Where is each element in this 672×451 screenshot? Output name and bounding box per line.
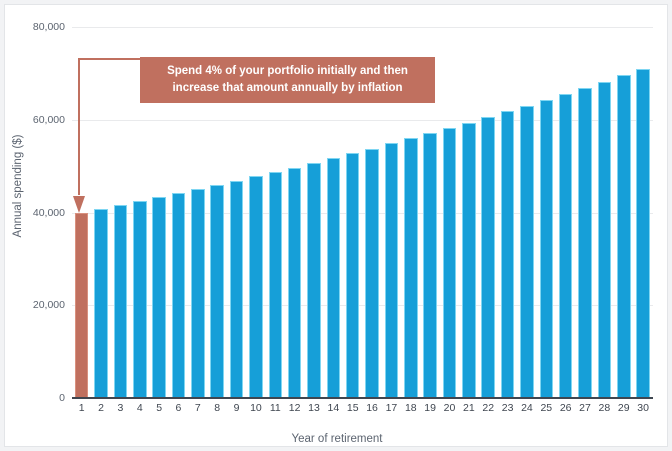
- bar-cell: [517, 27, 536, 398]
- bar-year-1[interactable]: [75, 213, 89, 399]
- x-tick-13: 13: [304, 402, 323, 420]
- x-tick-29: 29: [614, 402, 633, 420]
- bar-year-26[interactable]: [559, 94, 573, 398]
- bar-year-6[interactable]: [172, 193, 186, 398]
- x-tick-20: 20: [440, 402, 459, 420]
- y-tick-20000: 20,000: [7, 299, 65, 311]
- y-tick-0: 0: [7, 392, 65, 404]
- x-tick-28: 28: [595, 402, 614, 420]
- x-tick-27: 27: [575, 402, 594, 420]
- x-tick-19: 19: [420, 402, 439, 420]
- bar-cell: [459, 27, 478, 398]
- bar-year-11[interactable]: [269, 172, 283, 398]
- x-tick-21: 21: [459, 402, 478, 420]
- x-tick-10: 10: [246, 402, 265, 420]
- bar-cell: [537, 27, 556, 398]
- bar-year-8[interactable]: [210, 185, 224, 398]
- x-tick-11: 11: [266, 402, 285, 420]
- x-tick-7: 7: [188, 402, 207, 420]
- x-tick-24: 24: [517, 402, 536, 420]
- bar-year-27[interactable]: [578, 88, 592, 398]
- x-axis-tick-labels: 1234567891011121314151617181920212223242…: [72, 402, 653, 420]
- bar-year-7[interactable]: [191, 189, 205, 398]
- x-tick-12: 12: [285, 402, 304, 420]
- x-tick-30: 30: [633, 402, 652, 420]
- bar-cell: [575, 27, 594, 398]
- bar-year-23[interactable]: [501, 111, 515, 398]
- bar-year-2[interactable]: [94, 209, 108, 398]
- bar-cell: [440, 27, 459, 398]
- x-axis-title: Year of retirement: [5, 433, 669, 445]
- bar-year-24[interactable]: [520, 106, 534, 398]
- bar-year-3[interactable]: [114, 205, 128, 398]
- bar-cell: [91, 27, 110, 398]
- x-tick-22: 22: [479, 402, 498, 420]
- bar-year-14[interactable]: [327, 158, 341, 398]
- x-tick-15: 15: [343, 402, 362, 420]
- bar-year-20[interactable]: [443, 128, 457, 398]
- x-tick-14: 14: [324, 402, 343, 420]
- bar-cell: [595, 27, 614, 398]
- bar-year-18[interactable]: [404, 138, 418, 398]
- bar-year-17[interactable]: [385, 143, 399, 398]
- bar-year-28[interactable]: [598, 82, 612, 399]
- bar-cell: [614, 27, 633, 398]
- spending-rule-callout: Spend 4% of your portfolio initially and…: [140, 57, 435, 103]
- x-tick-18: 18: [401, 402, 420, 420]
- x-axis-line: [72, 397, 653, 399]
- bar-year-21[interactable]: [462, 123, 476, 398]
- x-tick-4: 4: [130, 402, 149, 420]
- x-tick-3: 3: [111, 402, 130, 420]
- x-tick-2: 2: [91, 402, 110, 420]
- bar-year-19[interactable]: [423, 133, 437, 398]
- x-tick-1: 1: [72, 402, 91, 420]
- bar-year-5[interactable]: [152, 197, 166, 398]
- bar-year-25[interactable]: [540, 100, 554, 398]
- x-tick-23: 23: [498, 402, 517, 420]
- bar-year-16[interactable]: [365, 149, 379, 398]
- bar-year-29[interactable]: [617, 75, 631, 398]
- x-tick-9: 9: [227, 402, 246, 420]
- chart-card: 80,000 60,000 40,000 20,000 0 Annual spe…: [4, 4, 668, 447]
- bar-cell: [556, 27, 575, 398]
- bar-cell: [479, 27, 498, 398]
- bar-cell: [111, 27, 130, 398]
- callout-line-2: increase that amount annually by inflati…: [149, 80, 426, 97]
- x-tick-8: 8: [208, 402, 227, 420]
- bar-year-13[interactable]: [307, 163, 321, 398]
- y-tick-80000: 80,000: [7, 21, 65, 33]
- bar-year-30[interactable]: [636, 69, 650, 398]
- x-tick-25: 25: [537, 402, 556, 420]
- bar-cell: [72, 27, 91, 398]
- x-tick-5: 5: [149, 402, 168, 420]
- callout-line-1: Spend 4% of your portfolio initially and…: [149, 63, 426, 80]
- x-tick-6: 6: [169, 402, 188, 420]
- bar-year-15[interactable]: [346, 153, 360, 398]
- bar-cell: [633, 27, 652, 398]
- x-tick-17: 17: [382, 402, 401, 420]
- bar-year-12[interactable]: [288, 168, 302, 398]
- y-axis-title: Annual spending ($): [12, 101, 24, 271]
- x-tick-26: 26: [556, 402, 575, 420]
- bar-year-10[interactable]: [249, 176, 263, 398]
- x-tick-16: 16: [362, 402, 381, 420]
- bar-year-4[interactable]: [133, 201, 147, 398]
- bar-cell: [498, 27, 517, 398]
- bar-year-9[interactable]: [230, 181, 244, 398]
- bar-year-22[interactable]: [481, 117, 495, 398]
